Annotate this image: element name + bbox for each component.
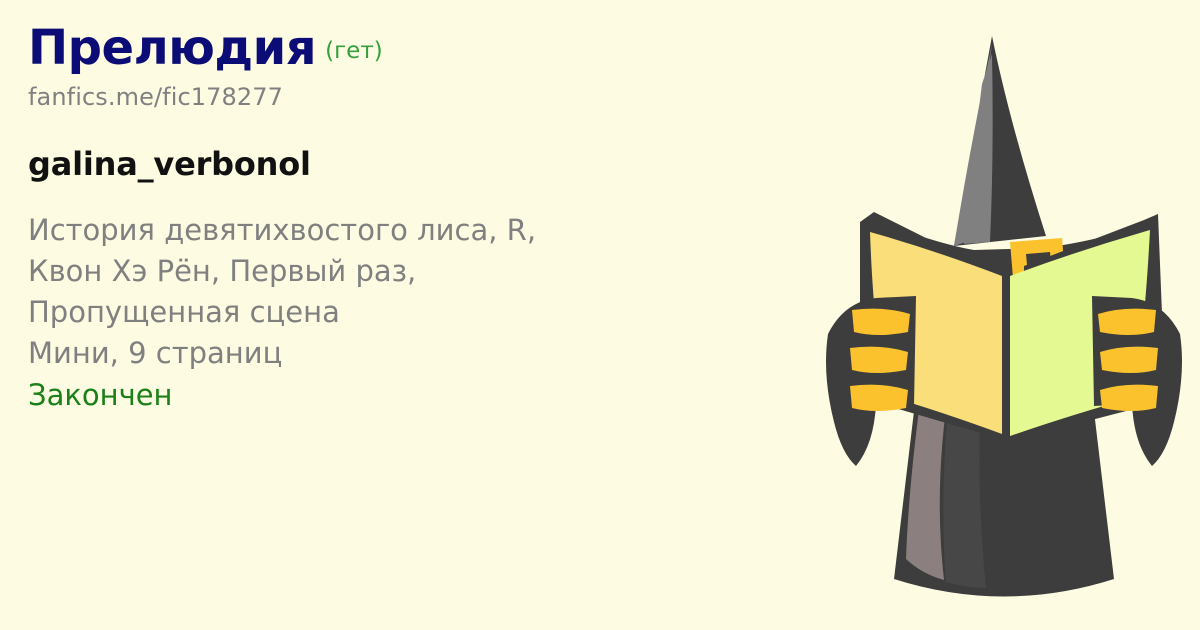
story-url[interactable]: fanfics.me/fic178277 [28, 83, 788, 111]
fanfic-preview-card: Прелюдия(гет) fanfics.me/fic178277 galin… [0, 0, 1200, 630]
page-title: Прелюдия [28, 20, 316, 76]
witch-left-hand [826, 296, 916, 466]
meta-line-characters-tags: Квон Хэ Рён, Первый раз, [28, 251, 788, 292]
witch-right-hand [1092, 296, 1182, 466]
story-category-badge: (гет) [325, 38, 383, 64]
witch-reading-book-illustration [814, 14, 1194, 614]
meta-line-genre: Пропущенная сцена [28, 292, 788, 333]
meta-line-size-pages: Мини, 9 страниц [28, 333, 788, 374]
author-name[interactable]: galina_verbonol [28, 145, 788, 183]
status-badge: Закончен [28, 375, 788, 416]
story-meta-block: История девятихвостого лиса, R, Квон Хэ … [28, 210, 788, 416]
meta-line-fandom-rating: История девятихвостого лиса, R, [28, 210, 788, 251]
title-row: Прелюдия(гет) [28, 24, 788, 74]
story-info-column: Прелюдия(гет) fanfics.me/fic178277 galin… [28, 24, 788, 416]
